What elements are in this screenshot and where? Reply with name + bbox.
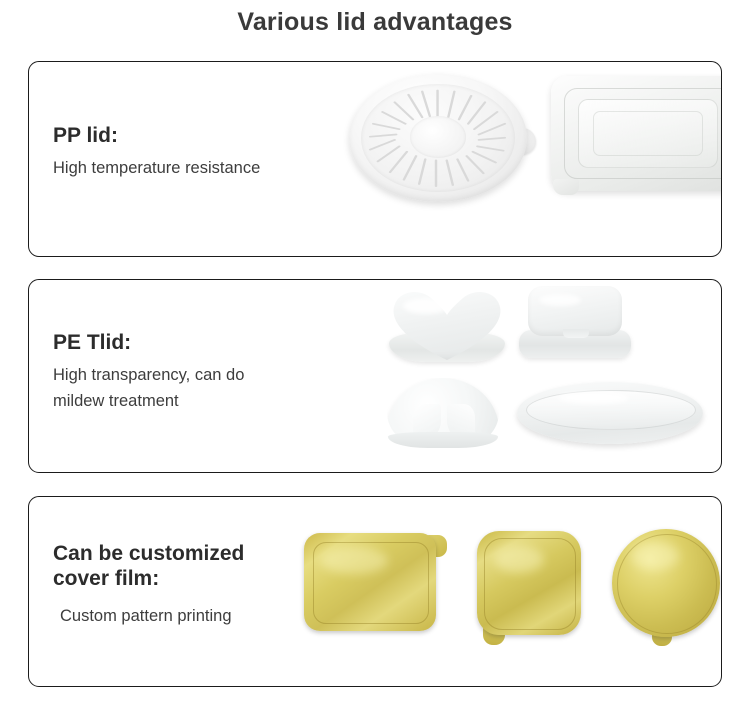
pe-square-lid-notch: [563, 329, 589, 338]
panel-cover-film: Can be customized cover film: Custom pat…: [28, 496, 722, 687]
page-title: Various lid advantages: [0, 8, 750, 37]
pp-round-ribbed-lid-image: [349, 74, 527, 202]
gold-foil-rectangular-lid-image: [304, 533, 436, 631]
panel-pp-product-images: [329, 62, 721, 256]
pe-dome-lid-lip: [388, 432, 498, 448]
pp-rectangular-lid-image: [551, 76, 722, 191]
panel-pe-description: High transparency, can do mildew treatme…: [53, 362, 244, 415]
panel-pp-text-block: PP lid: High temperature resistance: [53, 124, 260, 181]
panel-film-product-images: [329, 497, 721, 686]
panel-pe-lid: PE Tlid: High transparency, can do milde…: [28, 279, 722, 473]
panel-film-description: Custom pattern printing: [53, 603, 244, 630]
gold-square-lid-sheen: [494, 546, 544, 573]
panel-pp-lid: PP lid: High temperature resistance: [28, 61, 722, 257]
panel-pe-heading: PE Tlid:: [53, 331, 244, 356]
panel-pp-description: High temperature resistance: [53, 155, 260, 182]
pe-dome-lid-cap: [387, 378, 499, 473]
panel-pe-text-block: PE Tlid: High transparency, can do milde…: [53, 331, 244, 415]
pe-oval-lid-image: [517, 382, 703, 444]
pe-square-lid-highlight: [539, 294, 581, 306]
lid-advantages-page: Various lid advantages PP lid: High temp…: [0, 0, 750, 712]
pe-heart-lid-image: [387, 286, 507, 362]
pp-rect-lid-ridge-inner: [593, 111, 703, 157]
gold-foil-square-lid-image: [477, 531, 581, 635]
pp-rect-lid-corner-tab: [553, 179, 579, 195]
pe-heart-lid-highlight: [403, 298, 449, 314]
panel-pe-product-images: [329, 280, 721, 472]
panel-pp-heading: PP lid:: [53, 124, 260, 149]
panel-film-heading: Can be customized cover film:: [53, 542, 244, 592]
gold-round-lid-sheen: [631, 542, 679, 570]
pe-dome-lid-image: [387, 378, 499, 448]
pe-square-dome-lid-image: [519, 286, 631, 358]
gold-foil-round-lid-image: [612, 529, 720, 637]
panel-film-text-block: Can be customized cover film: Custom pat…: [53, 542, 244, 629]
